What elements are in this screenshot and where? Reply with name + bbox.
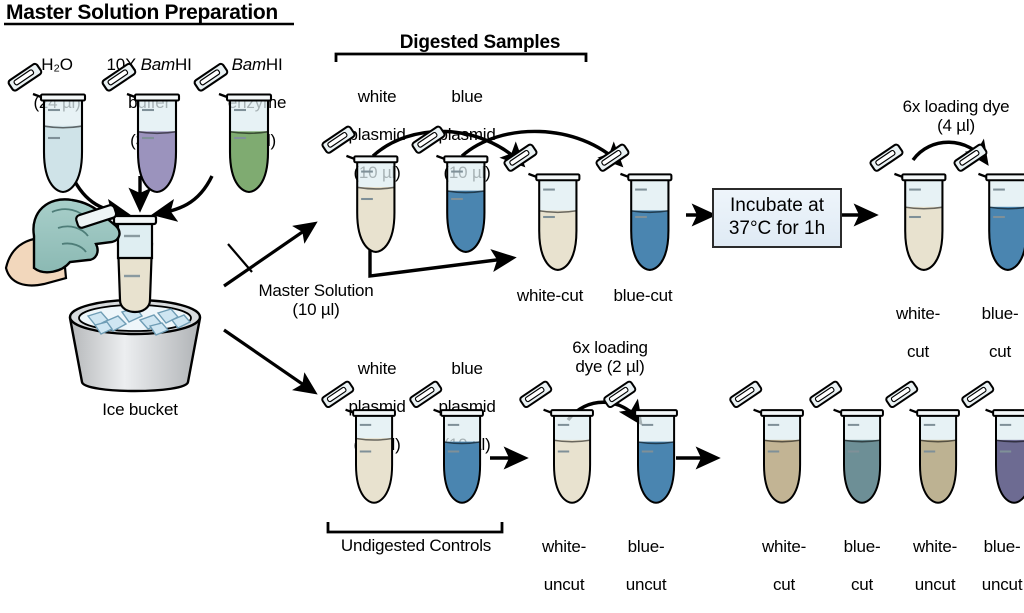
final-label-3: blue- uncut <box>962 518 1024 613</box>
undigested-controls-label: Undigested Controls <box>326 536 506 555</box>
white-uncut-l1: white- <box>542 537 586 556</box>
label-after-dye-blue: blue- cut <box>958 285 1024 380</box>
tube-reagent-enzyme <box>190 88 274 201</box>
tube-final-white-cut <box>726 404 806 511</box>
final2-l2: uncut <box>915 575 956 594</box>
white-src-l1: white <box>358 87 397 106</box>
tube-blue-uncut <box>600 404 680 511</box>
blue-src-l1: blue <box>451 87 482 106</box>
white-uncut-l2: uncut <box>544 575 585 594</box>
water-name: H₂O <box>41 55 73 74</box>
tube-after-dye-white-cut <box>866 168 948 279</box>
label-blue-uncut: blue- uncut <box>599 518 675 613</box>
u-white-l1: white <box>358 359 397 378</box>
u-blue-l1: blue <box>451 359 482 378</box>
tube-digested-source-blue <box>408 150 490 261</box>
gloved-hand <box>6 199 119 285</box>
master-solution-tube <box>114 216 156 312</box>
tube-reagent-buffer <box>98 88 182 201</box>
tube-white-uncut <box>516 404 596 511</box>
tube-reagent-water <box>4 88 88 201</box>
enzyme-name: BamHI <box>232 55 283 74</box>
final-label-2: white- uncut <box>886 518 966 613</box>
tube-final-blue-cut <box>806 404 886 511</box>
tube-undigested-source-white <box>318 404 398 511</box>
after-dye-blue-l2: cut <box>989 342 1011 361</box>
ice-bucket-label: Ice bucket <box>75 400 205 419</box>
page-title: Master Solution Preparation <box>6 1 278 25</box>
blue-uncut-l1: blue- <box>628 537 665 556</box>
blue-uncut-l2: uncut <box>626 575 667 594</box>
tube-after-dye-blue-cut <box>950 168 1024 279</box>
final0-l1: white- <box>762 537 806 556</box>
after-dye-white-l2: cut <box>907 342 929 361</box>
loading-dye-label-bottom: 6x loading dye (2 µl) <box>546 338 674 376</box>
label-after-dye-white: white- cut <box>874 285 944 380</box>
tube-final-white-uncut <box>882 404 962 511</box>
after-dye-white-l1: white- <box>896 304 940 323</box>
label-white-uncut: white- uncut <box>515 518 595 613</box>
master-solution-label: Master Solution (10 µl) <box>226 281 406 319</box>
tube-undigested-source-blue <box>406 404 486 511</box>
protocol-diagram: Master Solution Preparation H₂O (24 µl) … <box>0 0 1024 559</box>
final-label-0: white- cut <box>738 518 812 613</box>
after-dye-blue-l1: blue- <box>982 304 1019 323</box>
digested-samples-heading: Digested Samples <box>370 32 590 53</box>
final2-l1: white- <box>913 537 957 556</box>
final-label-1: blue- cut <box>821 518 885 613</box>
final1-l2: cut <box>851 575 873 594</box>
undigested-bracket <box>328 522 502 532</box>
incubate-step-box: Incubate at 37°C for 1h <box>712 188 842 248</box>
label-white-cut: white-cut <box>500 286 600 305</box>
label-blue-cut: blue-cut <box>598 286 688 305</box>
digested-bracket <box>336 54 586 62</box>
tube-final-blue-uncut <box>958 404 1024 511</box>
final0-l2: cut <box>773 575 795 594</box>
white-src-l2: plasmid <box>348 125 405 144</box>
final3-l1: blue- <box>984 537 1021 556</box>
blue-src-l2: plasmid <box>438 125 495 144</box>
tube-white-cut <box>500 168 582 279</box>
loading-dye-label-top: 6x loading dye (4 µl) <box>888 97 1024 135</box>
final1-l1: blue- <box>844 537 881 556</box>
tube-digested-source-white <box>318 150 400 261</box>
tube-blue-cut <box>592 168 674 279</box>
final3-l2: uncut <box>982 575 1023 594</box>
